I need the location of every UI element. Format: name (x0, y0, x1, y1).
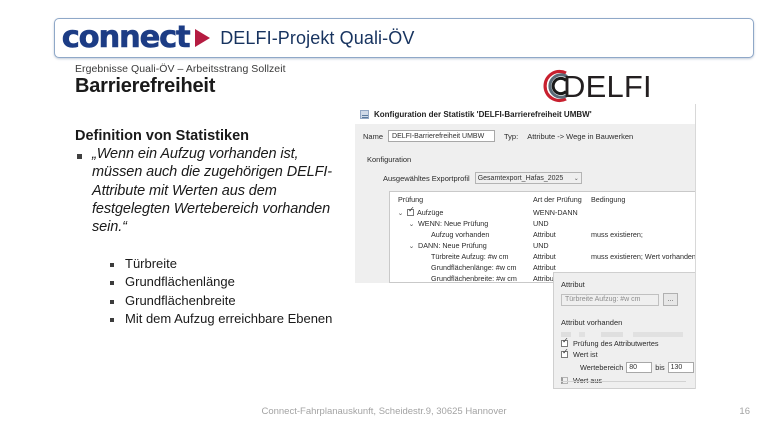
tree-cell-art: UND (533, 241, 591, 250)
tree-row-label: Aufzug vorhanden (431, 230, 489, 239)
tree-cell-pruefung: ⌄Aufzüge (398, 208, 533, 217)
list-item: Mit dem Aufzug erreichbare Ebenen (110, 311, 365, 327)
tree-cell-pruefung: Türbreite Aufzug: #w cm (398, 252, 533, 261)
app-screenshot: Konfiguration der Statistik 'DELFI-Barri… (355, 104, 696, 389)
delfi-logo: DELFI (536, 66, 652, 106)
attribute-sub-list: Türbreite Grundflächenlänge Grundflächen… (110, 256, 365, 329)
connect-logo: connect (63, 23, 220, 53)
list-item: Grundflächenbreite (110, 293, 365, 309)
wertebereich-row: Wertebereich 80 bis 130 (580, 362, 696, 373)
panel-divider (561, 381, 686, 382)
table-row[interactable]: Aufzug vorhanden Attribut muss existiere… (390, 229, 696, 240)
quote-text: „Wenn ein Aufzug vorhanden ist, müssen a… (92, 145, 339, 237)
table-row[interactable]: ⌄WENN: Neue Prüfung UND (390, 218, 696, 229)
delfi-wordmark: DELFI (563, 71, 652, 102)
attribut-input[interactable]: Türbreite Aufzug: #w cm (561, 294, 659, 306)
konfiguration-label: Konfiguration (367, 155, 411, 164)
tree-header-row: Prüfung Art der Prüfung Bedingung (390, 192, 696, 207)
tree-cell-bedingung: muss existieren; Wert vorhanden; (591, 252, 696, 261)
quote-bullet: „Wenn ein Aufzug vorhanden ist, müssen a… (77, 145, 339, 237)
pruefung-tree[interactable]: Prüfung Art der Prüfung Bedingung ⌄Aufzü… (389, 191, 696, 283)
wertebereich-from-input[interactable]: 80 (626, 362, 652, 373)
list-item: Grundflächenlänge (110, 274, 365, 290)
header-title: DELFI-Projekt Quali-ÖV (220, 28, 414, 49)
slide-canvas: connect DELFI-Projekt Quali-ÖV Ergebniss… (0, 0, 768, 432)
header-banner: connect DELFI-Projekt Quali-ÖV (54, 18, 754, 58)
chevron-down-icon[interactable]: ⌄ (409, 242, 419, 250)
column-header-art: Art der Prüfung (533, 195, 591, 204)
tree-row-label: Grundflächenlänge: #w cm (431, 263, 517, 272)
export-profile-label: Ausgewähltes Exportprofil (383, 174, 470, 183)
square-bullet-icon (110, 318, 114, 322)
play-triangle-icon (195, 29, 210, 47)
name-row: Name DELFI-Barrierefreiheit UMBW Typ: At… (355, 124, 695, 148)
list-item-label: Grundflächenlänge (125, 274, 235, 290)
blurred-toolbar-strip (561, 332, 683, 337)
dialog-title: Konfiguration der Statistik 'DELFI-Barri… (374, 110, 592, 119)
name-label: Name (363, 132, 383, 141)
tree-cell-art: WENN-DANN (533, 208, 591, 217)
wert-ist-label: Wert ist (573, 350, 598, 359)
tree-row-label: Grundflächenbreite: #w cm (431, 274, 517, 283)
table-row[interactable]: ⌄Aufzüge WENN-DANN (390, 207, 696, 218)
row-checkbox[interactable] (407, 209, 414, 216)
tree-row-label: Aufzüge (417, 208, 443, 217)
wertebereich-label: Wertebereich (580, 363, 623, 372)
square-bullet-icon (77, 154, 82, 159)
typ-value: Attribute -> Wege in Bauwerken (527, 132, 633, 141)
konfiguration-group: Konfiguration Ausgewähltes Exportprofil … (361, 150, 689, 283)
tree-cell-pruefung: Aufzug vorhanden (398, 230, 533, 239)
connect-wordmark: connect (62, 23, 190, 53)
tree-cell-pruefung: Grundflächenlänge: #w cm (398, 263, 533, 272)
page-title: Barrierefreiheit (75, 75, 215, 98)
list-item-label: Mit dem Aufzug erreichbare Ebenen (125, 311, 332, 327)
export-profile-row: Ausgewähltes Exportprofil Gesamtexport_H… (383, 172, 689, 184)
square-bullet-icon (110, 281, 114, 285)
column-header-pruefung: Prüfung (398, 195, 533, 204)
chevron-down-icon[interactable]: ⌄ (398, 209, 408, 217)
attribut-panel: Attribut Türbreite Aufzug: #w cm ... Att… (553, 272, 696, 389)
tree-row-label: DANN: Neue Prüfung (418, 241, 487, 250)
wert-ist-checkbox-row[interactable]: Wert ist (561, 350, 696, 359)
name-input[interactable]: DELFI-Barrierefreiheit UMBW (388, 130, 495, 142)
square-bullet-icon (110, 263, 114, 267)
list-item: Türbreite (110, 256, 365, 272)
slide-kicker: Ergebnisse Quali-ÖV – Arbeitsstrang Soll… (75, 63, 286, 75)
tree-cell-art: Attribut (533, 252, 591, 261)
list-item-label: Grundflächenbreite (125, 293, 236, 309)
wert-ist-checkbox[interactable] (561, 351, 568, 358)
tree-cell-pruefung: Grundflächenbreite: #w cm (398, 274, 533, 283)
dialog-titlebar: Konfiguration der Statistik 'DELFI-Barri… (355, 104, 695, 124)
browse-button[interactable]: ... (663, 293, 678, 306)
tree-cell-art: Attribut (533, 230, 591, 239)
tree-cell-bedingung: muss existieren; (591, 230, 696, 239)
table-row[interactable]: Türbreite Aufzug: #w cm Attribut muss ex… (390, 251, 696, 262)
page-number: 16 (739, 406, 750, 417)
chevron-down-icon: ⌄ (574, 175, 579, 182)
square-bullet-icon (110, 300, 114, 304)
attribut-vorhanden-label: Attribut vorhanden (561, 318, 696, 327)
attribut-input-row: Türbreite Aufzug: #w cm ... (561, 293, 696, 306)
column-header-bedingung: Bedingung (591, 195, 696, 204)
attribut-group-label: Attribut (561, 280, 696, 289)
list-item-label: Türbreite (125, 256, 177, 272)
pruefung-attributwert-checkbox-row[interactable]: Prüfung des Attributwertes (561, 339, 696, 348)
window-config-icon (360, 110, 369, 119)
export-profile-value: Gesamtexport_Hafas_2025 (478, 175, 564, 182)
chevron-down-icon[interactable]: ⌄ (409, 220, 419, 228)
tree-row-label: Türbreite Aufzug: #w cm (431, 252, 509, 261)
pruefung-attributwert-checkbox[interactable] (561, 340, 568, 347)
export-profile-select[interactable]: Gesamtexport_Hafas_2025 ⌄ (475, 172, 582, 184)
wertebereich-bis-label: bis (655, 363, 664, 372)
tree-cell-art: UND (533, 219, 591, 228)
pruefung-attributwert-label: Prüfung des Attributwertes (573, 339, 659, 348)
table-row[interactable]: ⌄DANN: Neue Prüfung UND (390, 240, 696, 251)
tree-cell-pruefung: ⌄DANN: Neue Prüfung (398, 241, 533, 250)
footer-text: Connect-Fahrplanauskunft, Scheidestr.9, … (0, 406, 768, 417)
dialog-body: Name DELFI-Barrierefreiheit UMBW Typ: At… (355, 124, 695, 283)
tree-row-label: WENN: Neue Prüfung (418, 219, 488, 228)
tree-cell-art: Attribut (533, 263, 591, 272)
typ-label: Typ: (504, 132, 518, 141)
wertebereich-to-input[interactable]: 130 (668, 362, 694, 373)
section-subhead: Definition von Statistiken (75, 128, 249, 144)
tree-cell-pruefung: ⌄WENN: Neue Prüfung (398, 219, 533, 228)
